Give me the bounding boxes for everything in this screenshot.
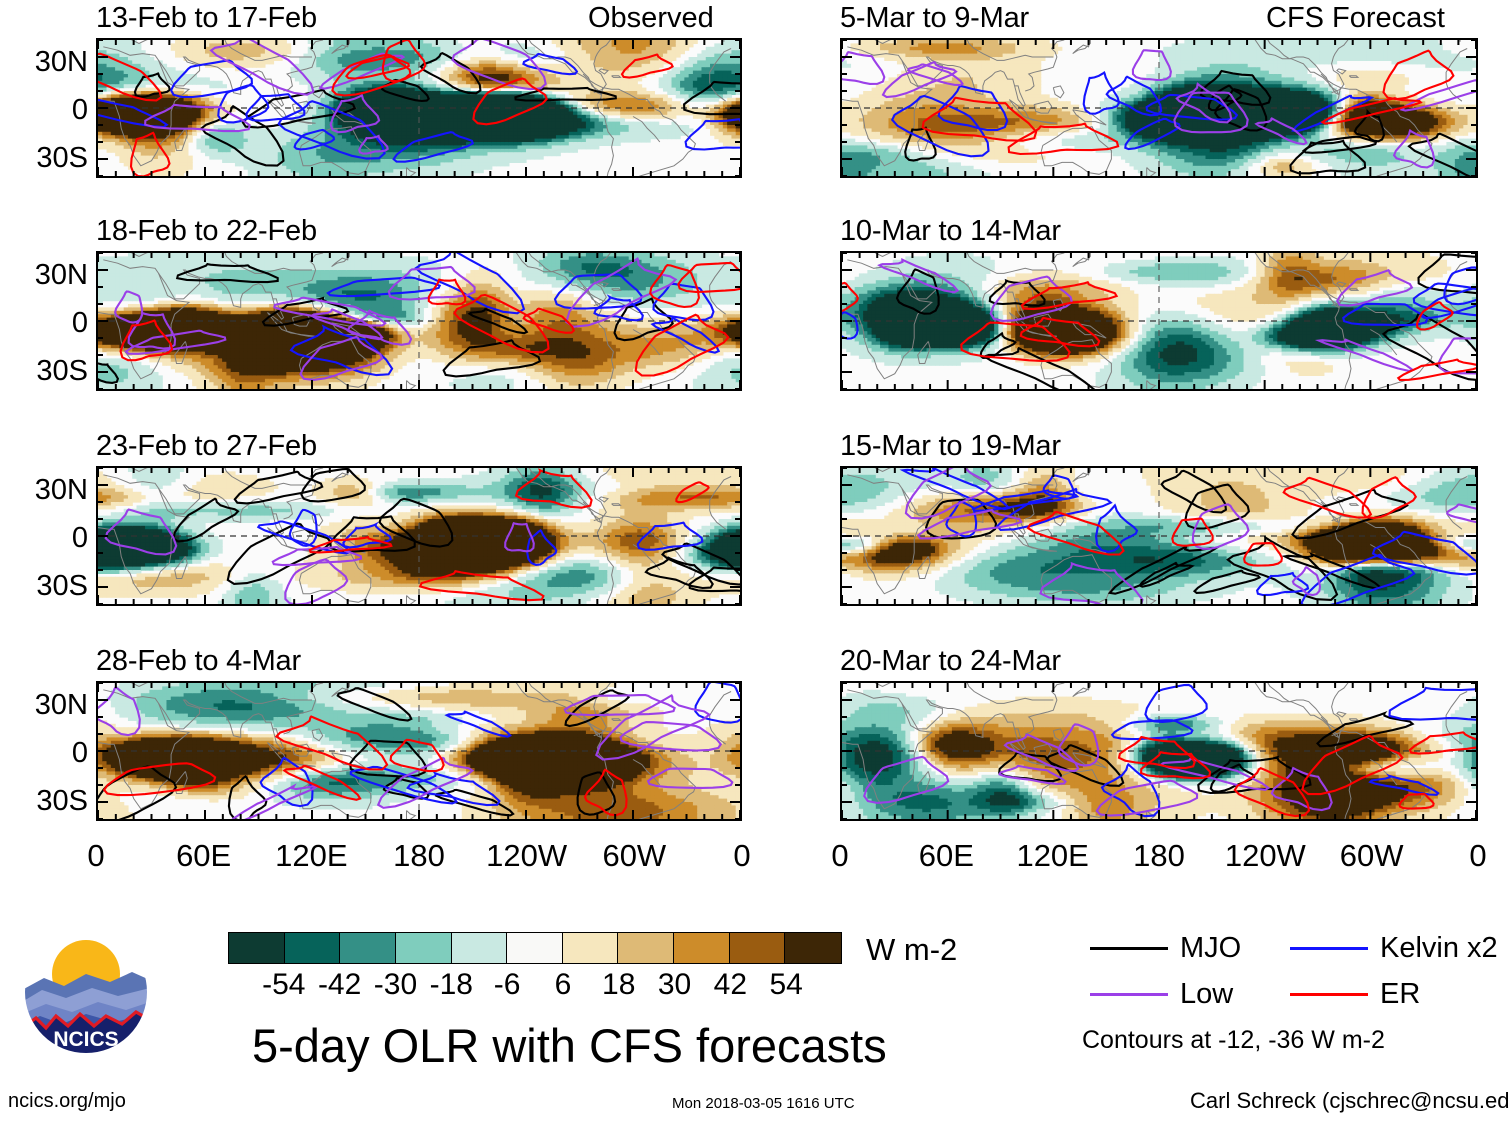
map-canvas — [98, 253, 740, 389]
map-graphic — [842, 683, 1476, 819]
panel-title-5: 23-Feb to 27-Feb — [96, 430, 317, 463]
ylabel-30n-r1: 30N — [6, 46, 88, 79]
xtick-label: 120W — [1225, 838, 1306, 874]
ncics-logo-graphic: NCICS — [22, 928, 150, 1056]
xtick-label: 180 — [393, 838, 445, 874]
xtick-label: 60W — [602, 838, 666, 874]
xtick-label: 0 — [831, 838, 848, 874]
contour-level-note: Contours at -12, -36 W m-2 — [1082, 1026, 1385, 1055]
logo-text: NCICS — [53, 1028, 118, 1051]
map-panel-4[interactable] — [840, 251, 1478, 391]
map-panel-5[interactable] — [96, 466, 742, 606]
map-canvas — [98, 683, 740, 819]
colorbar-tick-label: -6 — [494, 968, 521, 1002]
map-graphic — [98, 253, 740, 389]
colorbar-units-label: W m-2 — [866, 932, 957, 968]
map-canvas — [98, 468, 740, 604]
map-graphic — [98, 468, 740, 604]
colorbar-tick-label: 18 — [602, 968, 635, 1002]
ylabel-30n-r3: 30N — [6, 474, 88, 507]
ylabel-0-r2: 0 — [6, 307, 88, 340]
panel-title-4: 10-Mar to 14-Mar — [840, 215, 1061, 248]
colorbar-swatch — [618, 933, 674, 963]
xtick-label: 60E — [176, 838, 231, 874]
colorbar-swatch — [452, 933, 508, 963]
low-line-icon — [1090, 993, 1168, 996]
panel-title-2: 5-Mar to 9-Mar — [840, 2, 1029, 35]
map-graphic — [842, 40, 1476, 176]
map-graphic — [98, 683, 740, 819]
colorbar-swatch — [563, 933, 619, 963]
xtick-label: 0 — [733, 838, 750, 874]
colorbar-swatch — [285, 933, 341, 963]
map-canvas — [842, 468, 1476, 604]
er-line-icon — [1290, 993, 1368, 996]
xtick-label: 180 — [1133, 838, 1185, 874]
colorbar[interactable] — [228, 932, 842, 964]
colorbar-swatch — [785, 933, 841, 963]
colorbar-tick-labels: -54-42-30-18-6618304254 — [228, 968, 842, 1004]
timestamp: Mon 2018-03-05 1616 UTC — [672, 1095, 855, 1112]
legend-entry-mjo[interactable]: MJO — [1090, 932, 1241, 965]
ylabel-30s-r2: 30S — [6, 355, 88, 388]
legend-entry-er[interactable]: ER — [1290, 978, 1420, 1011]
colorbar-tick-label: -54 — [262, 968, 305, 1002]
ylabel-30n-r4: 30N — [6, 689, 88, 722]
ylabel-30s-r1: 30S — [6, 142, 88, 175]
map-graphic — [842, 468, 1476, 604]
xtick-label: 0 — [1469, 838, 1486, 874]
ylabel-30s-r4: 30S — [6, 785, 88, 818]
map-graphic — [98, 40, 740, 176]
xtick-label: 120W — [486, 838, 567, 874]
map-canvas — [842, 40, 1476, 176]
x-axis-labels-left: 0 60E 120E 180 120W 60W 0 — [96, 838, 742, 878]
panel-title-7: 28-Feb to 4-Mar — [96, 645, 301, 678]
panel-title-6: 15-Mar to 19-Mar — [840, 430, 1061, 463]
colorbar-tick-label: -42 — [318, 968, 361, 1002]
legend-label: Kelvin x2 — [1380, 932, 1498, 965]
colorbar-swatch — [674, 933, 730, 963]
column-label-observed: Observed — [588, 2, 714, 35]
colorbar-tick-label: 54 — [769, 968, 802, 1002]
ylabel-0-r4: 0 — [6, 737, 88, 770]
map-graphic — [842, 253, 1476, 389]
ncics-logo[interactable]: NCICS — [22, 928, 150, 1056]
xtick-label: 0 — [87, 838, 104, 874]
legend-entry-low[interactable]: Low — [1090, 978, 1233, 1011]
map-panel-8[interactable] — [840, 681, 1478, 821]
colorbar-tick-label: -18 — [430, 968, 473, 1002]
colorbar-tick-label: 6 — [555, 968, 572, 1002]
colorbar-swatch — [730, 933, 786, 963]
colorbar-swatch — [340, 933, 396, 963]
colorbar-tick-label: 30 — [658, 968, 691, 1002]
map-canvas — [842, 253, 1476, 389]
site-link[interactable]: ncics.org/mjo — [8, 1090, 126, 1113]
xtick-label: 120E — [1016, 838, 1088, 874]
map-panel-1[interactable] — [96, 38, 742, 178]
xtick-label: 60W — [1340, 838, 1404, 874]
xtick-label: 120E — [275, 838, 347, 874]
column-label-forecast: CFS Forecast — [1266, 2, 1445, 35]
panel-title-1: 13-Feb to 17-Feb — [96, 2, 317, 35]
figure-title: 5-day OLR with CFS forecasts — [252, 1018, 887, 1073]
colorbar-tick-label: -30 — [374, 968, 417, 1002]
ylabel-30n-r2: 30N — [6, 259, 88, 292]
map-canvas — [98, 40, 740, 176]
map-panel-7[interactable] — [96, 681, 742, 821]
panel-title-8: 20-Mar to 24-Mar — [840, 645, 1061, 678]
legend-entry-kelvin[interactable]: Kelvin x2 — [1290, 932, 1498, 965]
map-canvas — [842, 683, 1476, 819]
x-axis-labels-right: 0 60E 120E 180 120W 60W 0 — [840, 838, 1478, 878]
colorbar-swatch — [396, 933, 452, 963]
author-credit: Carl Schreck (cjschrec@ncsu.edu) — [1190, 1088, 1510, 1114]
ylabel-0-r1: 0 — [6, 94, 88, 127]
legend-label: ER — [1380, 978, 1420, 1011]
map-panel-2[interactable] — [840, 38, 1478, 178]
colorbar-tick-label: 42 — [714, 968, 747, 1002]
colorbar-swatch — [229, 933, 285, 963]
kelvin-line-icon — [1290, 947, 1368, 950]
legend-label: Low — [1180, 978, 1233, 1011]
xtick-label: 60E — [919, 838, 974, 874]
ylabel-0-r3: 0 — [6, 522, 88, 555]
colorbar-swatch — [507, 933, 563, 963]
map-panel-6[interactable] — [840, 466, 1478, 606]
mjo-line-icon — [1090, 947, 1168, 950]
legend-label: MJO — [1180, 932, 1241, 965]
map-panel-3[interactable] — [96, 251, 742, 391]
panel-title-3: 18-Feb to 22-Feb — [96, 215, 317, 248]
ylabel-30s-r3: 30S — [6, 570, 88, 603]
